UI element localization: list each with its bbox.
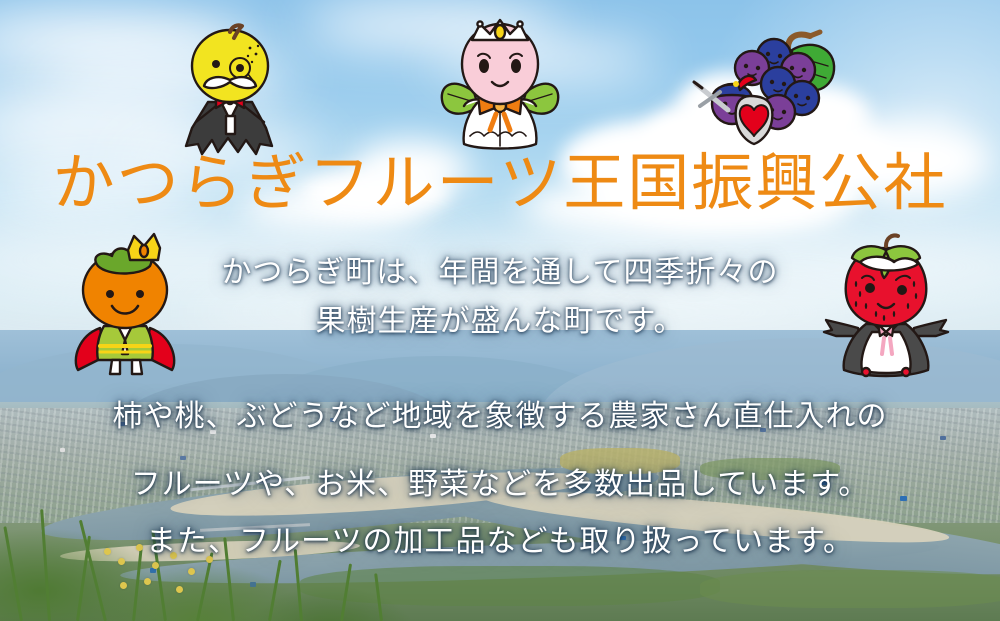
mascot-peach-princess <box>438 14 562 156</box>
subtitle-line-1: かつらぎ町は、年間を通して四季折々の <box>0 248 1000 297</box>
promotional-banner: かつらぎフルーツ王国振興公社 かつらぎ町は、年間を通して四季折々の 果樹生産が盛… <box>0 0 1000 621</box>
subtitle-block: かつらぎ町は、年間を通して四季折々の 果樹生産が盛んな町です。 <box>0 248 1000 346</box>
mascot-pear-gentleman <box>178 24 284 158</box>
page-title: かつらぎフルーツ王国振興公社 <box>0 152 1000 214</box>
body-text-block: 柿や桃、ぶどうなど地域を象徴する農家さん直仕入れの フルーツや、お米、野菜などを… <box>0 383 1000 519</box>
closing-line: また、フルーツの加工品なども取り扱っています。 <box>0 522 1000 562</box>
pear-gentleman-body <box>186 25 272 154</box>
body-line-1: 柿や桃、ぶどうなど地域を象徴する農家さん直仕入れの <box>0 383 1000 451</box>
body-line-2: フルーツや、お米、野菜などを多数出品しています。 <box>0 451 1000 519</box>
mascot-grape-knight <box>694 22 840 152</box>
field-patch-4 <box>700 570 1000 608</box>
subtitle-line-2: 果樹生産が盛んな町です。 <box>0 297 1000 346</box>
